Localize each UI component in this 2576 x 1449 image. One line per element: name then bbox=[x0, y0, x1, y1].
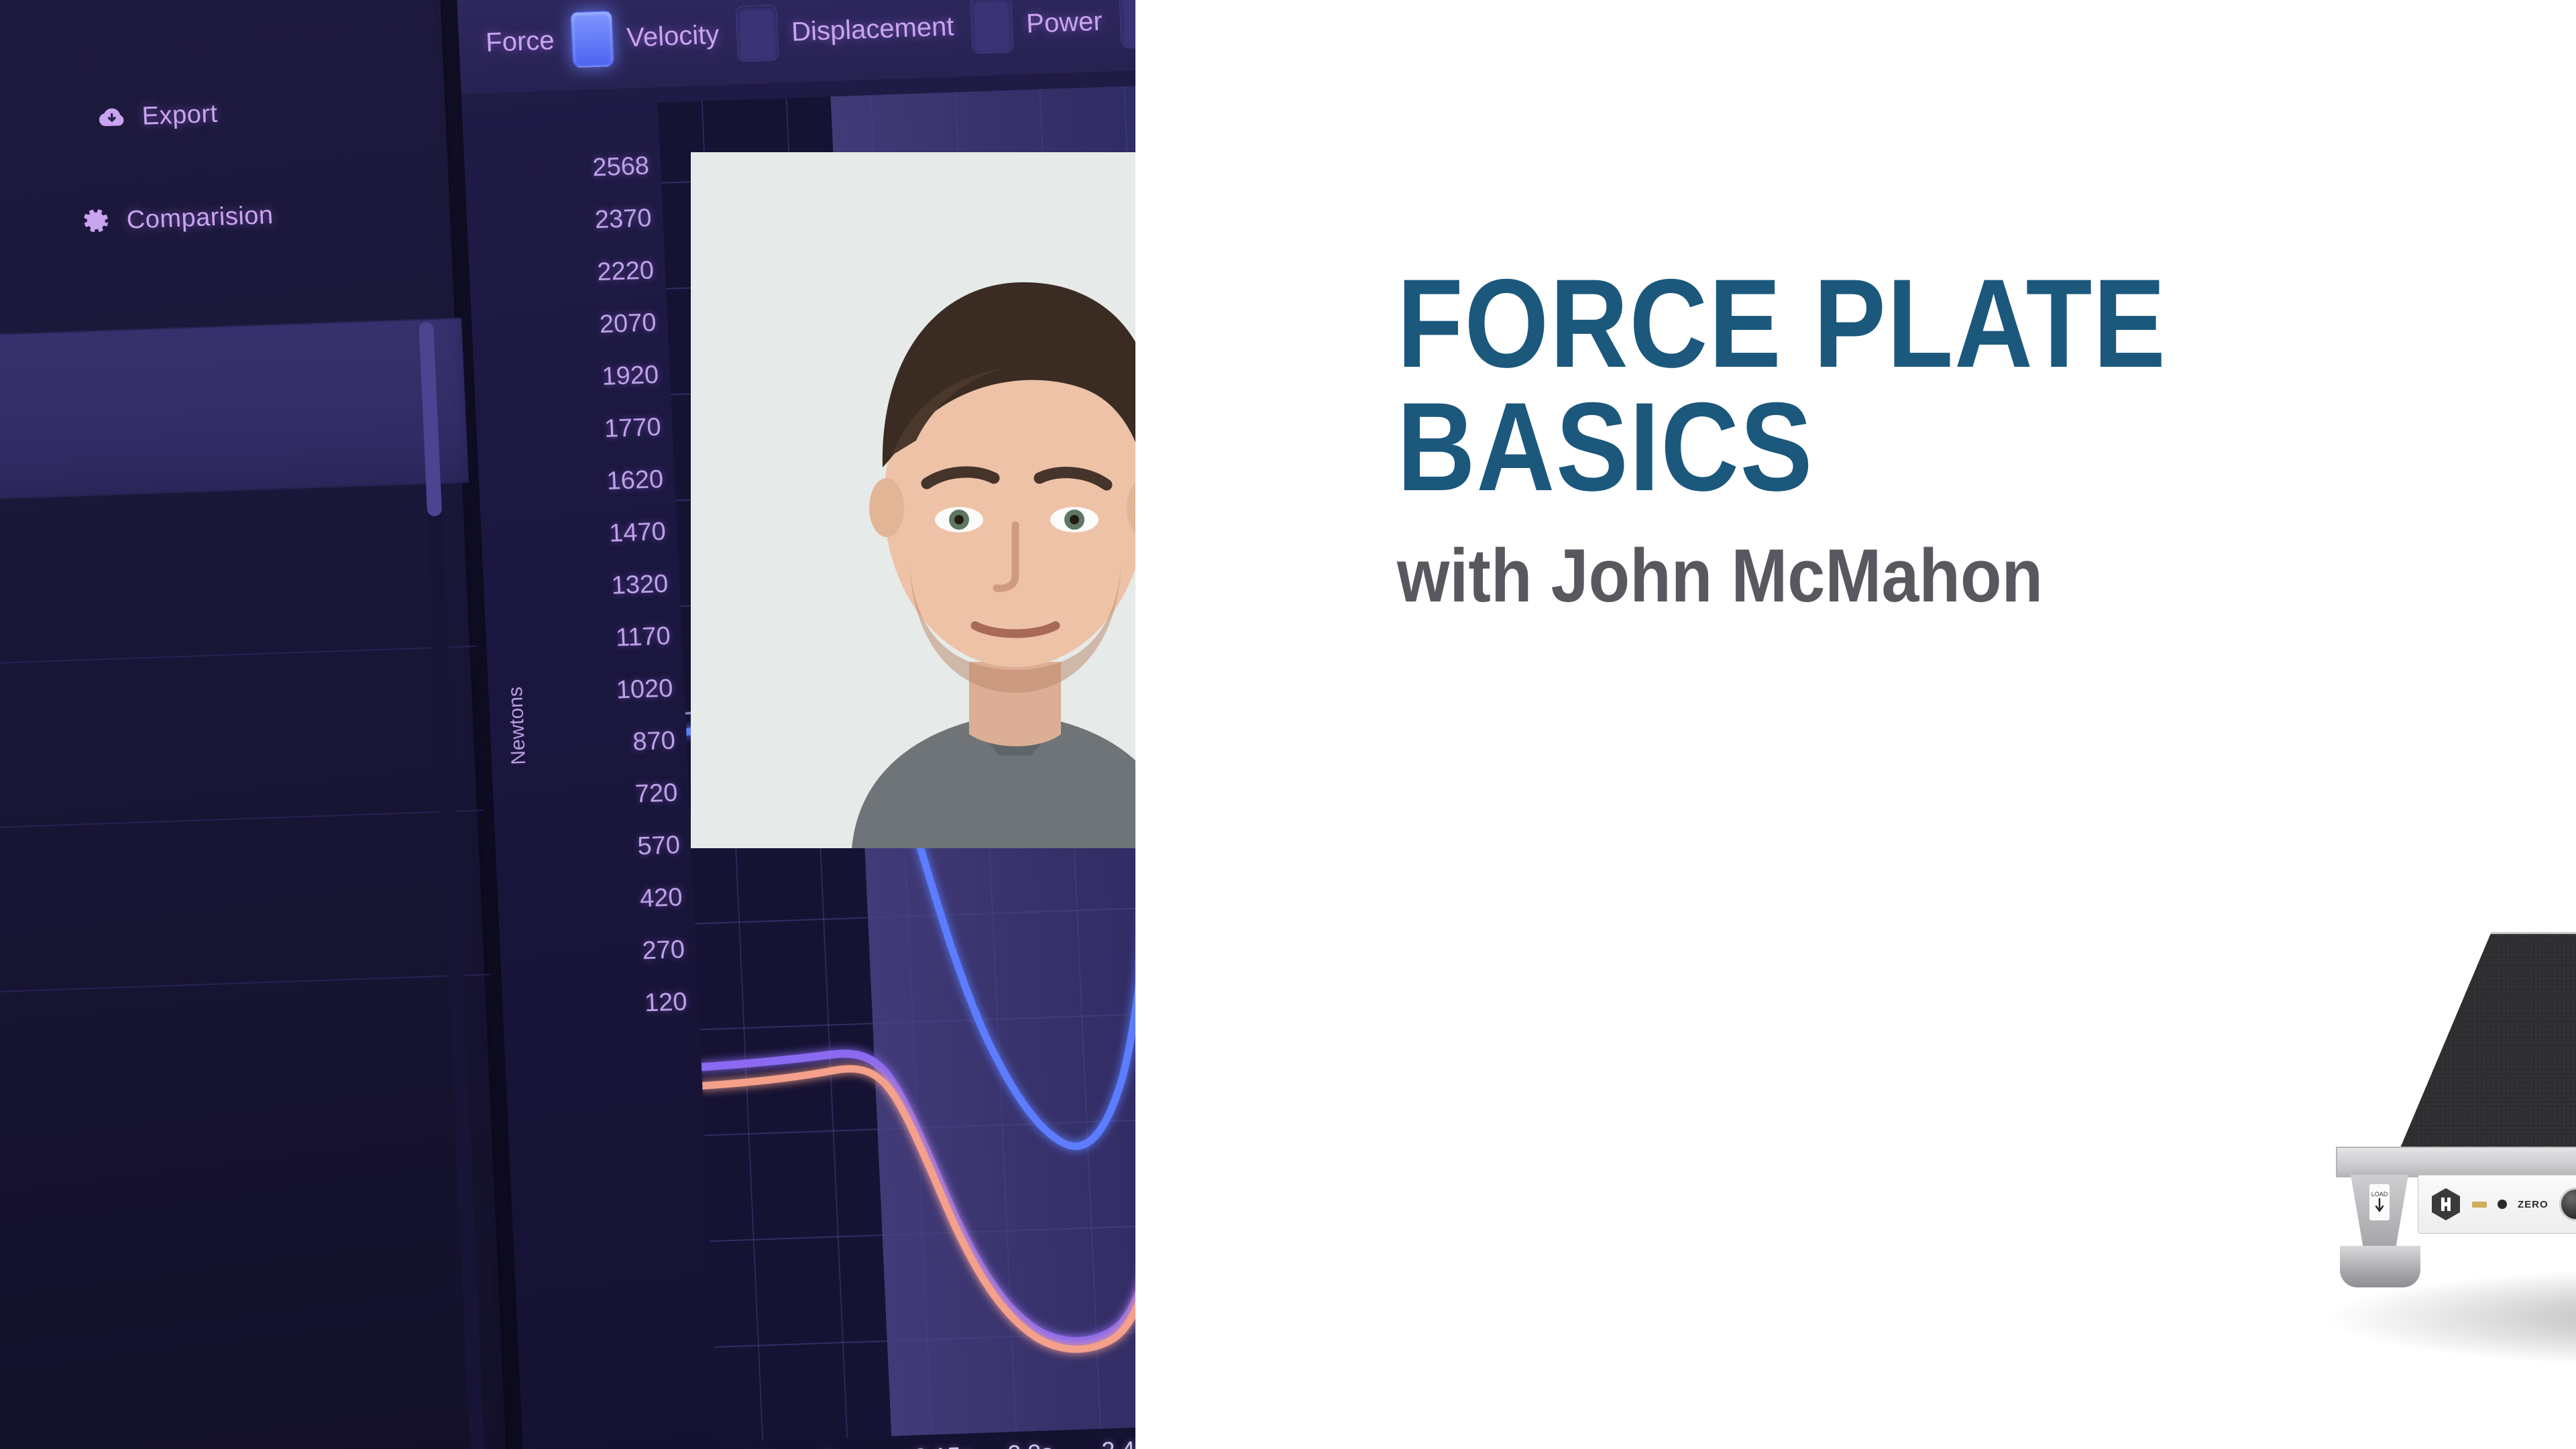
table-row[interactable]: 9 % 48 bbox=[0, 974, 498, 1161]
toggle-power[interactable]: Power bbox=[970, 0, 1103, 54]
y-tick-label: 2070 bbox=[498, 296, 657, 354]
table-row[interactable]: 4 % 60 bbox=[0, 810, 491, 998]
y-tick-label: 1470 bbox=[507, 506, 667, 563]
y-tick-label: 420 bbox=[524, 871, 683, 929]
y-tick-label: 1920 bbox=[500, 349, 659, 406]
cloud-download-icon bbox=[96, 102, 128, 134]
y-tick-label: 2370 bbox=[493, 192, 653, 249]
toggle-force-label: Force bbox=[485, 25, 555, 58]
metrics-panel: Export Comparision ZScore 57 bbox=[0, 0, 509, 1449]
usb-port-icon bbox=[2472, 1202, 2487, 1208]
toggle-displacement[interactable]: Displacement bbox=[735, 0, 955, 62]
table-row[interactable]: 61 bbox=[0, 481, 476, 669]
page-subtitle: with John McMahon bbox=[1397, 532, 2363, 619]
checkbox-power[interactable] bbox=[970, 0, 1014, 54]
toggle-velocity[interactable]: Velocity bbox=[571, 7, 721, 68]
zero-label: ZERO bbox=[2518, 1199, 2549, 1210]
export-button[interactable]: Export bbox=[96, 99, 219, 133]
y-tick-label: 1170 bbox=[512, 610, 671, 668]
gear-icon bbox=[80, 205, 113, 237]
down-arrow-icon bbox=[2375, 1198, 2384, 1214]
x-tick-label: 2.45s bbox=[1101, 1435, 1135, 1449]
load-label: LOAD bbox=[2371, 1191, 2388, 1198]
comparision-label: Comparision bbox=[126, 201, 274, 235]
y-tick-label: 1620 bbox=[504, 453, 664, 511]
title-block: FORCE PLATE BASICS with John McMahon bbox=[1397, 262, 2470, 619]
y-tick-label: 1020 bbox=[514, 662, 674, 720]
page-title-line1: FORCE PLATE bbox=[1397, 262, 2320, 385]
export-label: Export bbox=[142, 99, 219, 131]
x-tick-label: 2s bbox=[820, 1446, 846, 1449]
table-row[interactable]: 57 bbox=[0, 317, 469, 505]
toggle-power-label: Power bbox=[1025, 6, 1103, 39]
y-tick-label: 570 bbox=[521, 819, 681, 876]
plate-top-surface-left bbox=[2396, 932, 2576, 1157]
plate-foot-left-front bbox=[2340, 1246, 2420, 1287]
x-tick-label: 2.3s bbox=[1007, 1438, 1054, 1449]
plate-edge-left bbox=[2336, 1147, 2576, 1177]
y-tick-label: 720 bbox=[519, 766, 679, 824]
comparision-button[interactable]: Comparision bbox=[80, 200, 274, 237]
toggle-force[interactable]: Force bbox=[485, 25, 555, 58]
zero-button[interactable] bbox=[2559, 1187, 2576, 1221]
hawkin-hex-logo-icon bbox=[2430, 1187, 2461, 1221]
y-tick-label: 2220 bbox=[495, 244, 655, 302]
y-tick-label: 2568 bbox=[490, 139, 650, 197]
y-tick-label: 270 bbox=[526, 923, 685, 981]
force-plate-product-image: ZERO PWR LOAD LOAD bbox=[2336, 919, 2576, 1375]
force-plate-left: ZERO PWR LOAD LOAD bbox=[2336, 919, 2576, 1334]
table-row[interactable]: % 60 bbox=[0, 646, 484, 833]
metric-toggle-bar: Force Velocity Displacement Power bbox=[457, 0, 1135, 94]
y-tick-label: 1770 bbox=[502, 401, 662, 459]
title-area: FORCE PLATE BASICS with John McMahon bbox=[1135, 0, 2576, 1449]
checkbox-displacement[interactable] bbox=[735, 5, 779, 62]
toggle-displacement-label: Displacement bbox=[791, 11, 954, 47]
page-title-line2: BASICS bbox=[1397, 385, 2320, 508]
plate-leg-left-front: LOAD bbox=[2351, 1175, 2408, 1249]
y-tick-label: 870 bbox=[516, 715, 676, 772]
plate-connector-panel-left: ZERO PWR bbox=[2418, 1175, 2576, 1234]
toggle-velocity-label: Velocity bbox=[626, 19, 720, 53]
y-axis-ticks: 2568237022202070192017701620147013201170… bbox=[490, 139, 688, 1033]
checkbox-velocity[interactable] bbox=[571, 10, 615, 68]
y-tick-label: 1320 bbox=[510, 558, 669, 616]
y-tick-label: 120 bbox=[528, 976, 688, 1033]
reset-pinhole-icon bbox=[2498, 1200, 2507, 1209]
x-tick-label: 2.15s bbox=[913, 1442, 974, 1449]
checkbox-extra[interactable] bbox=[1119, 0, 1135, 49]
load-arrow-tag: LOAD bbox=[2369, 1184, 2390, 1220]
